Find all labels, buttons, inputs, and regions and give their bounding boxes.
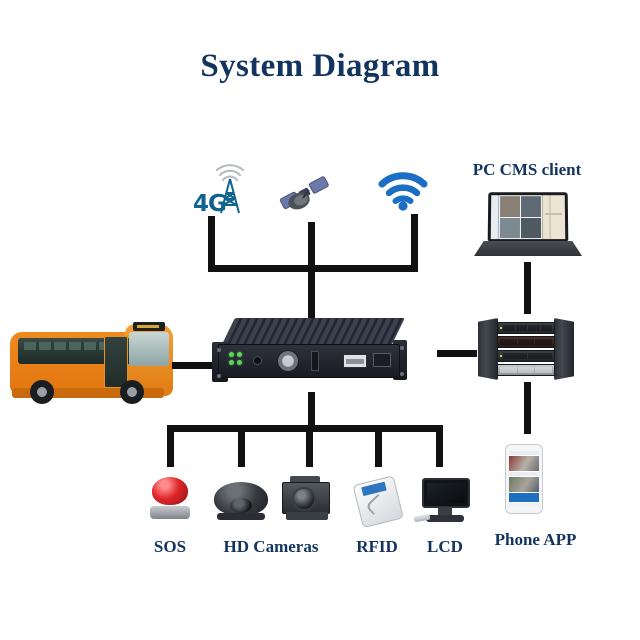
status-leds [229, 352, 242, 365]
connector-4g-to-bar [208, 216, 215, 271]
drop-mini-camera [306, 425, 313, 467]
server-rack-icon[interactable] [478, 318, 574, 380]
rfid-label: RFID [342, 537, 412, 557]
page-title: System Diagram [0, 48, 640, 85]
laptop-icon[interactable] [474, 192, 582, 258]
hd-cameras-label: HD Cameras [212, 537, 330, 557]
sos-button-icon[interactable] [150, 477, 190, 519]
laptop-keyboard [474, 241, 582, 256]
usb-port-icon[interactable] [343, 354, 367, 368]
satellite-icon [276, 168, 334, 220]
connector-bus-to-mdvr [172, 362, 212, 369]
laptop-screen [488, 192, 569, 242]
wifi-icon [378, 170, 428, 212]
sos-label: SOS [130, 537, 210, 557]
card-slot[interactable] [311, 351, 319, 371]
pc-cms-client-label: PC CMS client [462, 160, 592, 180]
lcd-monitor-icon[interactable] [418, 478, 472, 524]
connector-bar-to-mdvr [308, 265, 315, 319]
smartphone-icon[interactable] [505, 444, 543, 514]
connector-mdvr-to-server [437, 350, 477, 357]
drop-dome-camera [238, 425, 245, 467]
key-lock-icon[interactable] [277, 350, 299, 372]
phone-app-label: Phone APP [478, 530, 593, 550]
4g-label: 4G [193, 191, 226, 217]
mini-box-camera-icon[interactable] [282, 476, 332, 520]
drop-rfid [375, 425, 382, 467]
mdvr-device-icon[interactable] [212, 318, 407, 388]
drop-lcd [436, 425, 443, 467]
phone-screen [509, 451, 539, 507]
dome-camera-icon[interactable] [214, 478, 268, 520]
mdvr-front-panel [218, 344, 400, 378]
connector-gps-to-bar [308, 222, 315, 271]
ir-sensor-icon [253, 356, 262, 365]
lcd-label: LCD [412, 537, 478, 557]
connector-wifi-to-bar [411, 214, 418, 271]
connector-server-to-phone [524, 382, 531, 434]
system-diagram-canvas: System Diagram 4G [0, 0, 640, 640]
drop-sos [167, 425, 174, 467]
connector-pc-to-server [524, 262, 531, 314]
bus-icon[interactable] [8, 316, 173, 404]
sd-slot-icon[interactable] [373, 353, 391, 367]
rfid-reader-icon[interactable] [353, 478, 401, 524]
4g-tower-icon: 4G [193, 163, 255, 219]
mdvr-heatsink [221, 318, 405, 346]
peripheral-bus-bar [167, 425, 443, 432]
